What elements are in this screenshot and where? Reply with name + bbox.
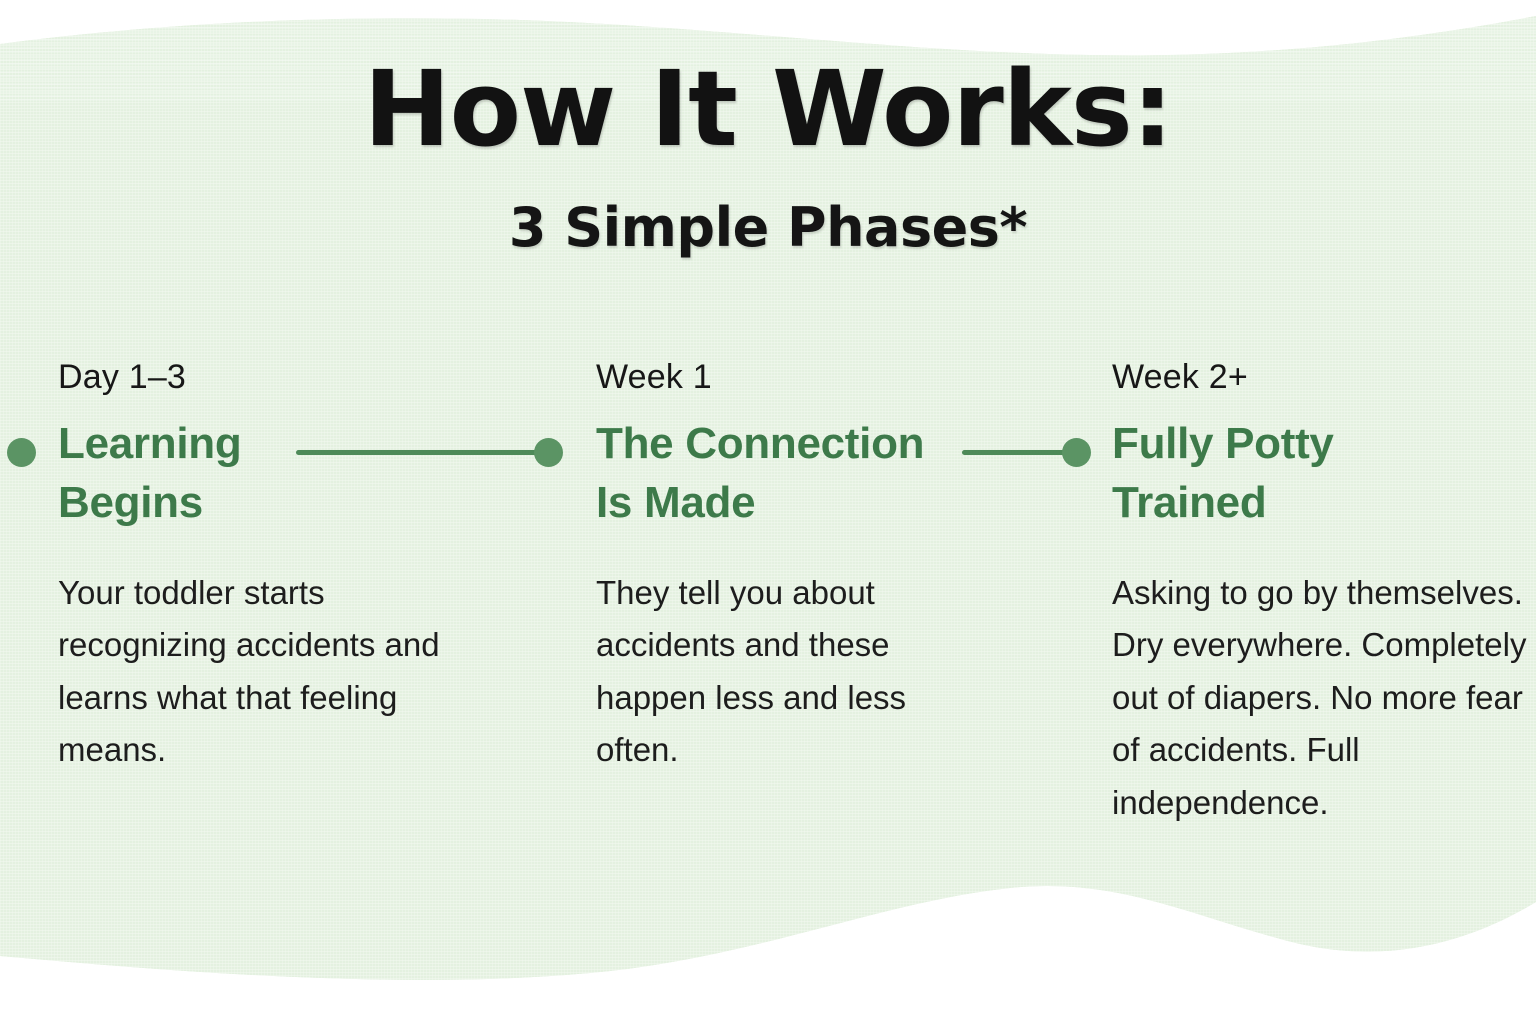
timeline-dot-2 xyxy=(534,438,563,467)
phase-3-title: Fully Potty Trained xyxy=(1112,415,1382,533)
phase-1-eyebrow: Day 1–3 xyxy=(58,358,458,397)
phase-2-body: They tell you about accidents and these … xyxy=(596,567,976,777)
timeline-connector-2 xyxy=(962,450,1076,455)
phase-2-eyebrow: Week 1 xyxy=(596,358,996,397)
phase-card-2: Week 1 The Connection Is Made They tell … xyxy=(596,358,996,777)
phase-card-3: Week 2+ Fully Potty Trained Asking to go… xyxy=(1112,358,1532,829)
timeline-dot-3 xyxy=(1062,438,1091,467)
phase-3-body: Asking to go by themselves. Dry everywhe… xyxy=(1112,567,1532,829)
page-subtitle: 3 Simple Phases* xyxy=(0,198,1536,257)
phase-card-1: Day 1–3 Learning Begins Your toddler sta… xyxy=(58,358,458,777)
timeline-connector-1 xyxy=(296,450,546,455)
phase-1-body: Your toddler starts recognizing accident… xyxy=(58,567,448,777)
timeline-dot-1 xyxy=(7,438,36,467)
page-title: How It Works: xyxy=(0,56,1536,162)
phase-2-title: The Connection Is Made xyxy=(596,415,956,533)
phase-3-eyebrow: Week 2+ xyxy=(1112,358,1532,397)
phase-1-title: Learning Begins xyxy=(58,415,308,533)
infographic-canvas: How It Works: 3 Simple Phases* Day 1–3 L… xyxy=(0,0,1536,1024)
